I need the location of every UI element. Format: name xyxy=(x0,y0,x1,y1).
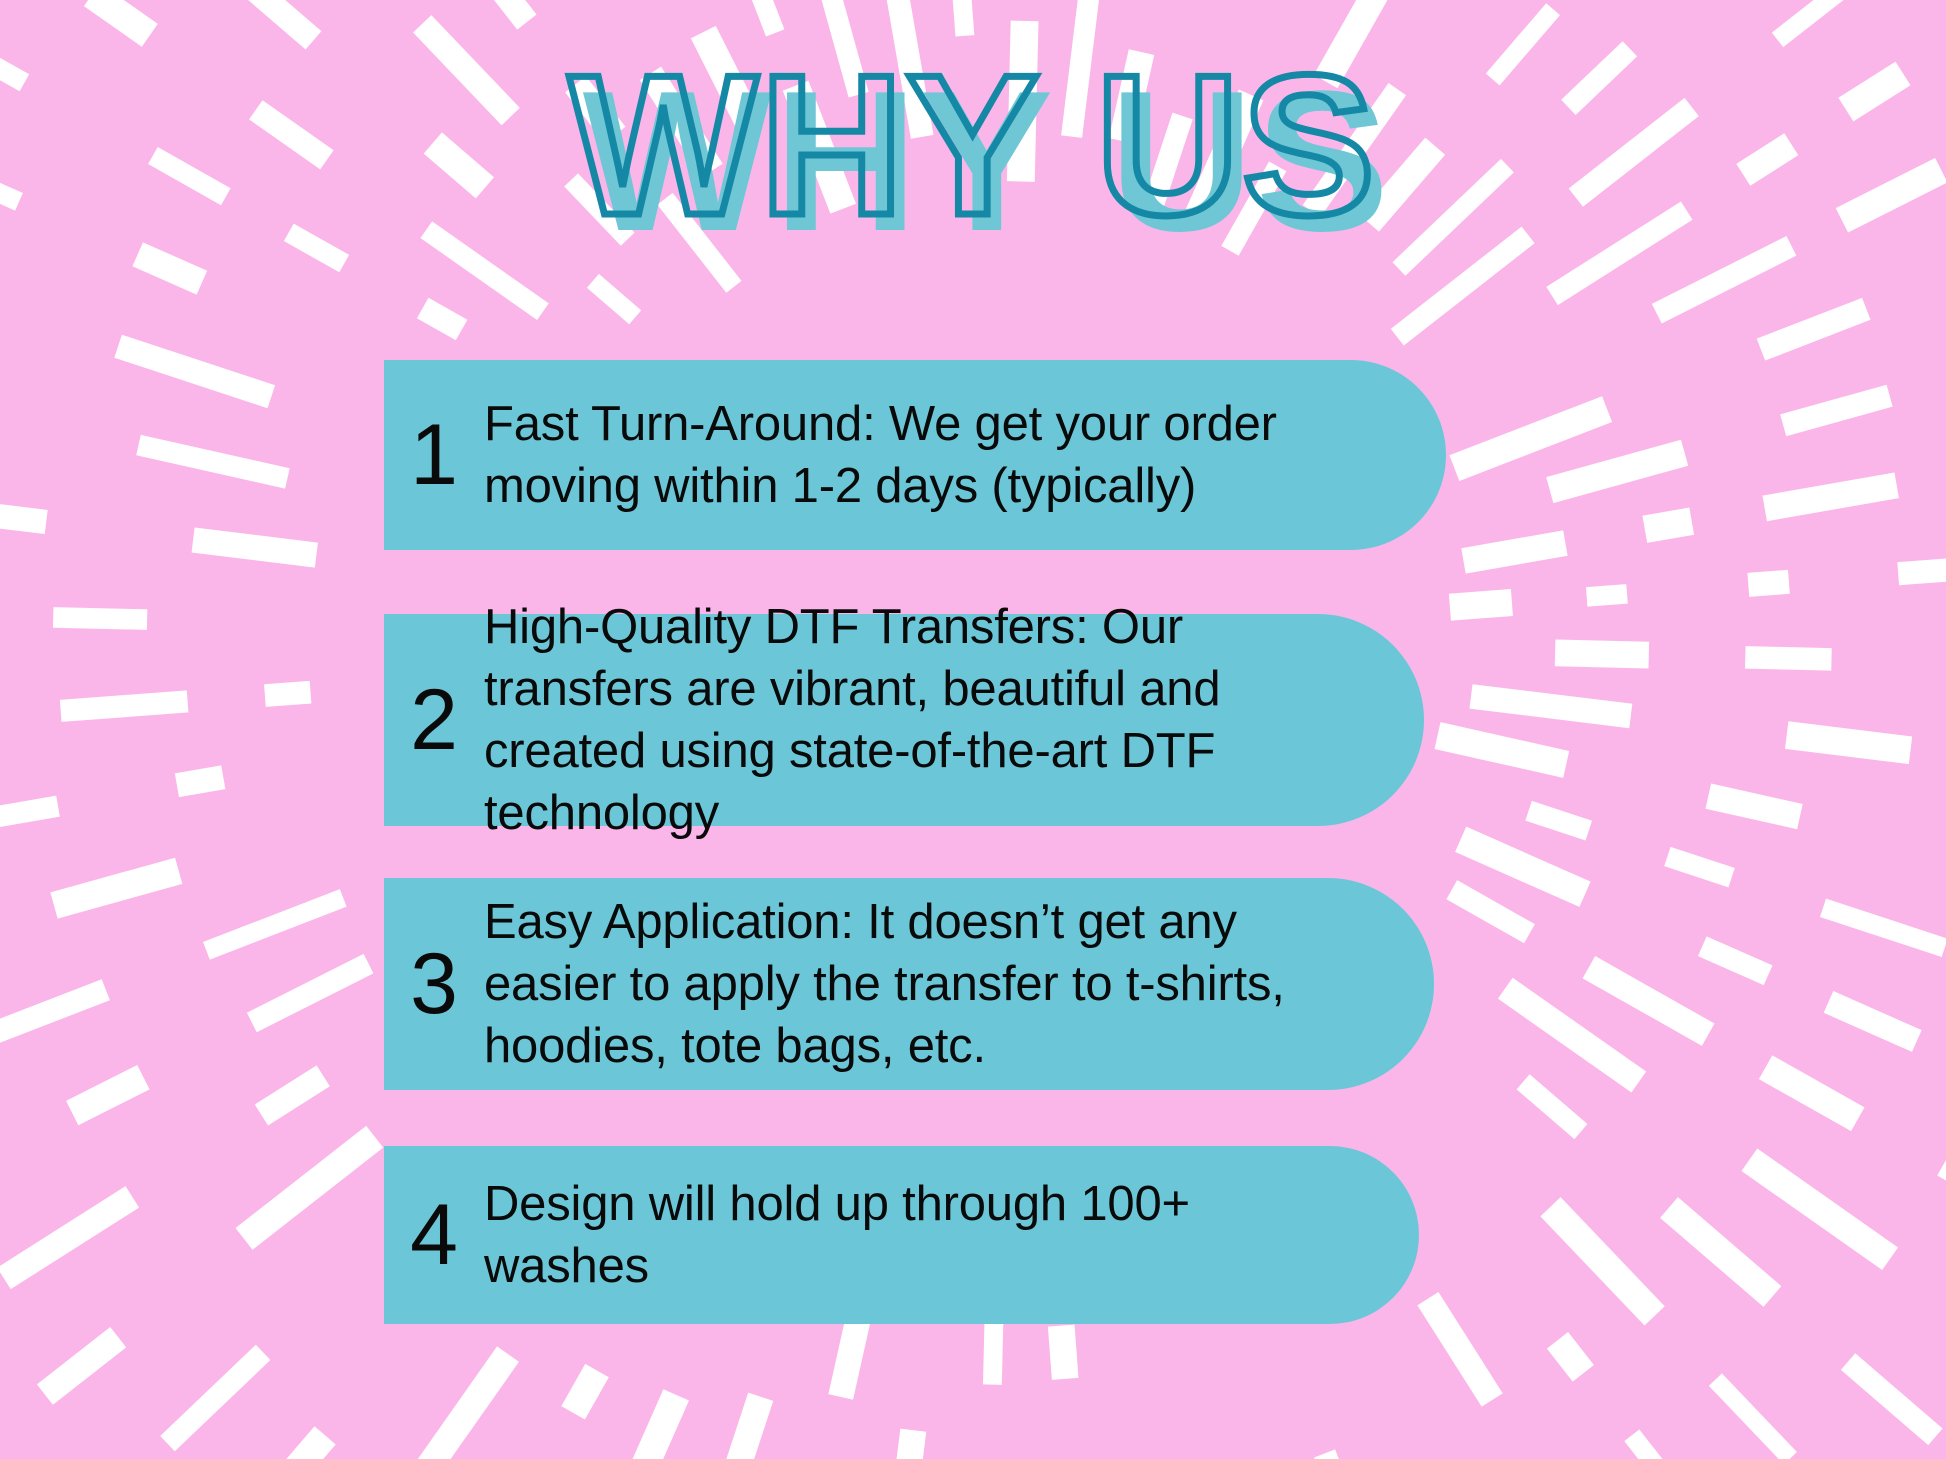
why-us-poster: WHY US WHY US 1 Fast Turn-Around: We get… xyxy=(0,0,1946,1459)
page-title-text: WHY US xyxy=(0,46,1946,246)
benefit-text-2: High-Quality DTF Transfers: Our transfer… xyxy=(484,596,1424,844)
benefit-number-3: 3 xyxy=(384,941,484,1027)
benefit-card-4: 4 Design will hold up through 100+ washe… xyxy=(384,1146,1419,1324)
benefit-number-4: 4 xyxy=(384,1192,484,1278)
benefit-text-3: Easy Application: It doesn’t get any eas… xyxy=(484,891,1434,1077)
page-title: WHY US WHY US xyxy=(0,46,1946,256)
benefit-number-2: 2 xyxy=(384,677,484,763)
benefit-text-1: Fast Turn-Around: We get your order movi… xyxy=(484,393,1446,517)
benefits-list: 1 Fast Turn-Around: We get your order mo… xyxy=(384,360,1684,1324)
benefit-card-3: 3 Easy Application: It doesn’t get any e… xyxy=(384,878,1434,1090)
benefit-card-1: 1 Fast Turn-Around: We get your order mo… xyxy=(384,360,1446,550)
benefit-text-4: Design will hold up through 100+ washes xyxy=(484,1173,1419,1297)
benefit-number-1: 1 xyxy=(384,412,484,498)
benefit-card-2: 2 High-Quality DTF Transfers: Our transf… xyxy=(384,614,1424,826)
